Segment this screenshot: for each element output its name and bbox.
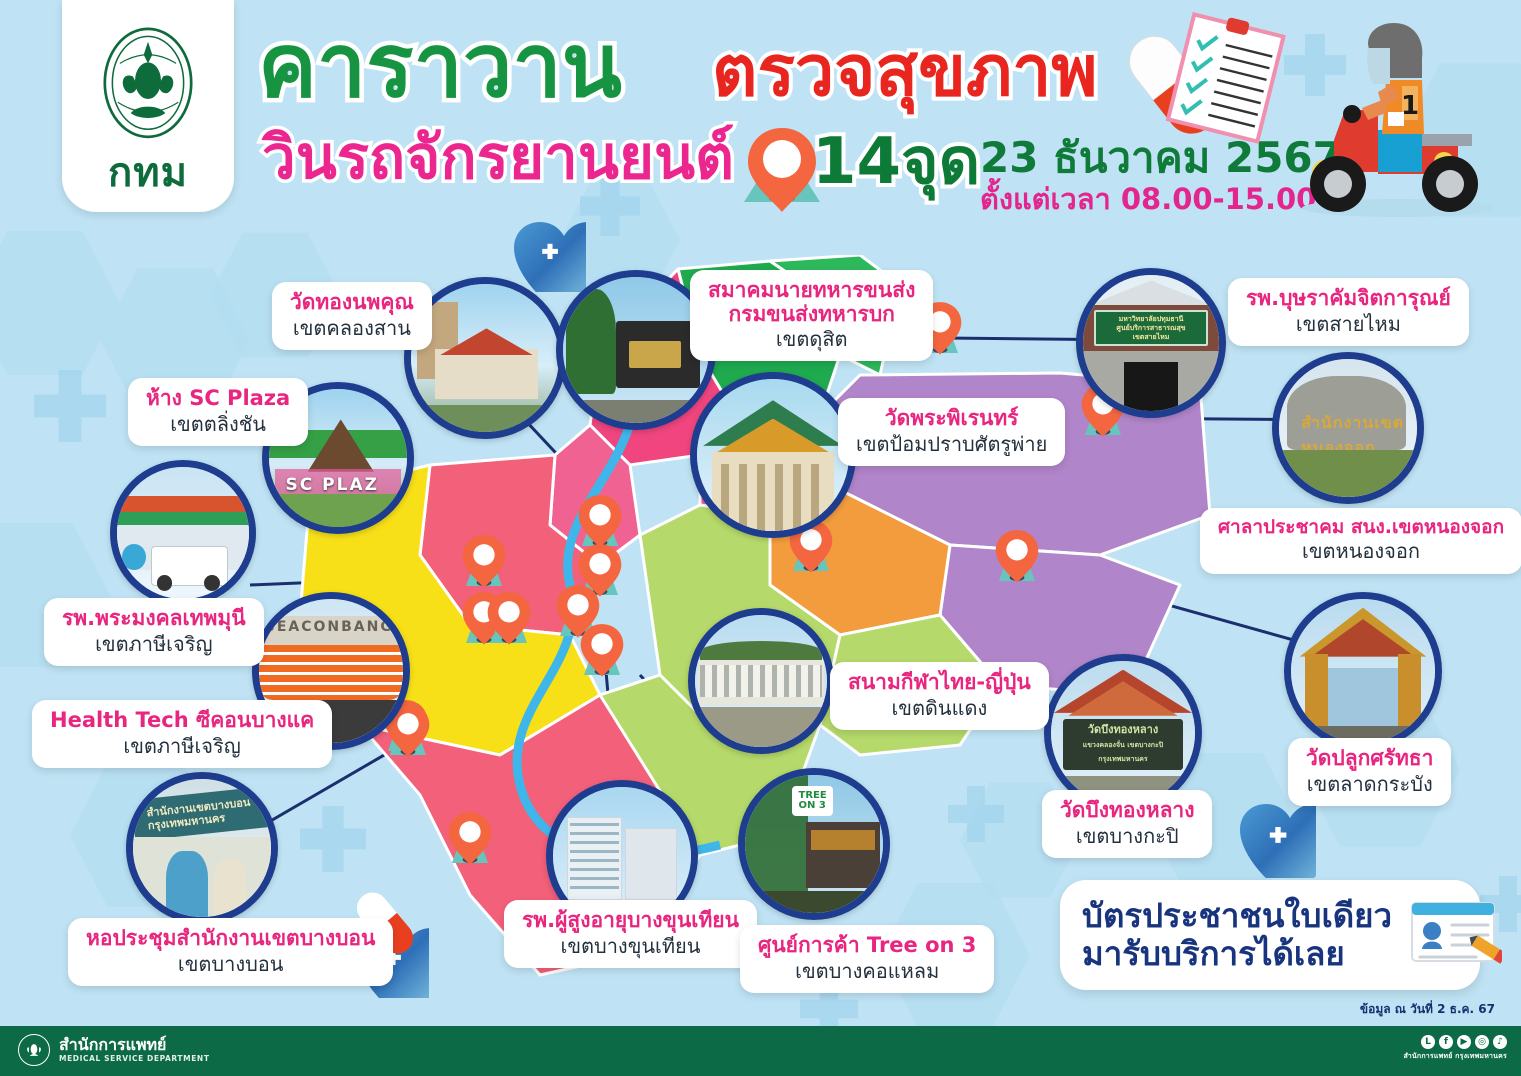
label-location-9[interactable]: วัดพระพิเรนทร์ เขตป้อมปราบศัตรูพ่าย xyxy=(838,398,1065,466)
label-location-2[interactable]: ห้าง SC Plaza เขตตลิ่งชัน xyxy=(128,378,308,446)
photo-circle-5[interactable]: สำนักงานเขตบางบอนกรุงเทพมหานคร xyxy=(126,772,278,924)
tiktok-icon[interactable]: ♪ xyxy=(1493,1035,1507,1049)
youtube-icon[interactable]: ▶ xyxy=(1457,1035,1471,1049)
id-card-icon xyxy=(1406,895,1502,975)
footer-social: L f ▶ ◎ ♪ สำนักการแพทย์ กรุงเทพมหานคร xyxy=(1404,1035,1507,1062)
label-location-13[interactable]: วัดปลูกศรัทธา เขตลาดกระบัง xyxy=(1288,738,1451,806)
callout-line-2: มารับบริการได้เลย xyxy=(1082,935,1392,973)
cross-decor xyxy=(34,370,106,442)
photo-circle-13[interactable] xyxy=(1284,592,1442,750)
motorcycle-rider-icon: 1 xyxy=(1282,22,1514,222)
photo-circle-9[interactable] xyxy=(690,372,856,538)
label-location-1[interactable]: วัดทองนพคุณ เขตคลองสาน xyxy=(272,282,432,350)
line-icon[interactable]: L xyxy=(1421,1035,1435,1049)
label-location-12[interactable]: ศาลาประชาคม สนง.เขตหนองจอก เขตหนองจอก xyxy=(1200,508,1521,574)
facebook-icon[interactable]: f xyxy=(1439,1035,1453,1049)
footer-handle: สำนักการแพทย์ กรุงเทพมหานคร xyxy=(1404,1051,1507,1062)
footer-org-name: สำนักการแพทย์ xyxy=(59,1037,210,1054)
instagram-icon[interactable]: ◎ xyxy=(1475,1035,1489,1049)
header-banner: กทม คาราวาน ตรวจสุขภาพ วินรถจักรยานยนต์ … xyxy=(0,0,1521,240)
title-points-count: 14จุด xyxy=(812,130,980,194)
label-location-4[interactable]: Health Tech ซีคอนบางแค เขตภาษีเจริญ xyxy=(32,700,332,768)
label-location-10[interactable]: สนามกีฬาไทย-ญี่ปุ่น เขตดินแดง xyxy=(830,662,1049,730)
photo-circle-10[interactable] xyxy=(688,608,834,754)
photo-circle-11[interactable]: มหาวิทยาลัยปทุมธานีศูนย์บริการสาธารณสุขเ… xyxy=(1076,268,1226,418)
label-location-5[interactable]: หอประชุมสำนักงานเขตบางบอน เขตบางบอน xyxy=(68,918,393,986)
label-location-8[interactable]: สมาคมนายทหารขนส่ง กรมขนส่งทหารบก เขตดุสิ… xyxy=(690,270,933,361)
label-location-11[interactable]: รพ.บุษราคัมจิตการุณย์ เขตสายไหม xyxy=(1228,278,1469,346)
label-location-14[interactable]: วัดบึงทองหลาง เขตบางกะปิ xyxy=(1042,790,1212,858)
label-location-7[interactable]: ศูนย์การค้า Tree on 3 เขตบางคอแหลม xyxy=(740,925,994,993)
photo-circle-12[interactable]: สำนักงานเขตหนองจอก xyxy=(1272,352,1424,504)
photo-circle-7[interactable]: TREEON 3 xyxy=(738,768,890,920)
title-caravan: คาราวาน xyxy=(258,22,622,110)
logo-text: กทม xyxy=(108,153,188,193)
label-location-3[interactable]: รพ.พระมงคลเทพมุนี เขตภาษีเจริญ xyxy=(44,598,264,666)
footer-seal-icon xyxy=(18,1034,50,1066)
heart-cross-decor xyxy=(1240,804,1316,878)
footer-bar: สำนักการแพทย์ MEDICAL SERVICE DEPARTMENT… xyxy=(0,1026,1521,1076)
title-motorcycle-taxi: วินรถจักรยานยนต์ xyxy=(262,128,734,188)
hexagon-decor xyxy=(0,228,120,378)
bma-seal-icon xyxy=(94,19,202,151)
bma-logo-card: กทม xyxy=(62,0,234,212)
photo-circle-3[interactable] xyxy=(110,460,256,606)
footer-org: สำนักการแพทย์ MEDICAL SERVICE DEPARTMENT xyxy=(18,1034,210,1066)
callout-line-1: บัตรประชาชนใบเดียว xyxy=(1082,897,1392,935)
as-of-date: ข้อมูล ณ วันที่ 2 ธ.ค. 67 xyxy=(1360,1000,1495,1019)
photo-circle-14[interactable]: วัดบึงทองหลางแขวงคลองจั่น เขตบางกะปิกรุง… xyxy=(1044,654,1202,812)
id-card-callout: บัตรประชาชนใบเดียว มารับบริการได้เลย xyxy=(1060,880,1480,990)
title-health-check: ตรวจสุขภาพ xyxy=(712,36,1098,106)
footer-org-name-en: MEDICAL SERVICE DEPARTMENT xyxy=(59,1054,210,1063)
label-location-6[interactable]: รพ.ผู้สูงอายุบางขุนเทียน เขตบางขุนเทียน xyxy=(504,900,757,968)
